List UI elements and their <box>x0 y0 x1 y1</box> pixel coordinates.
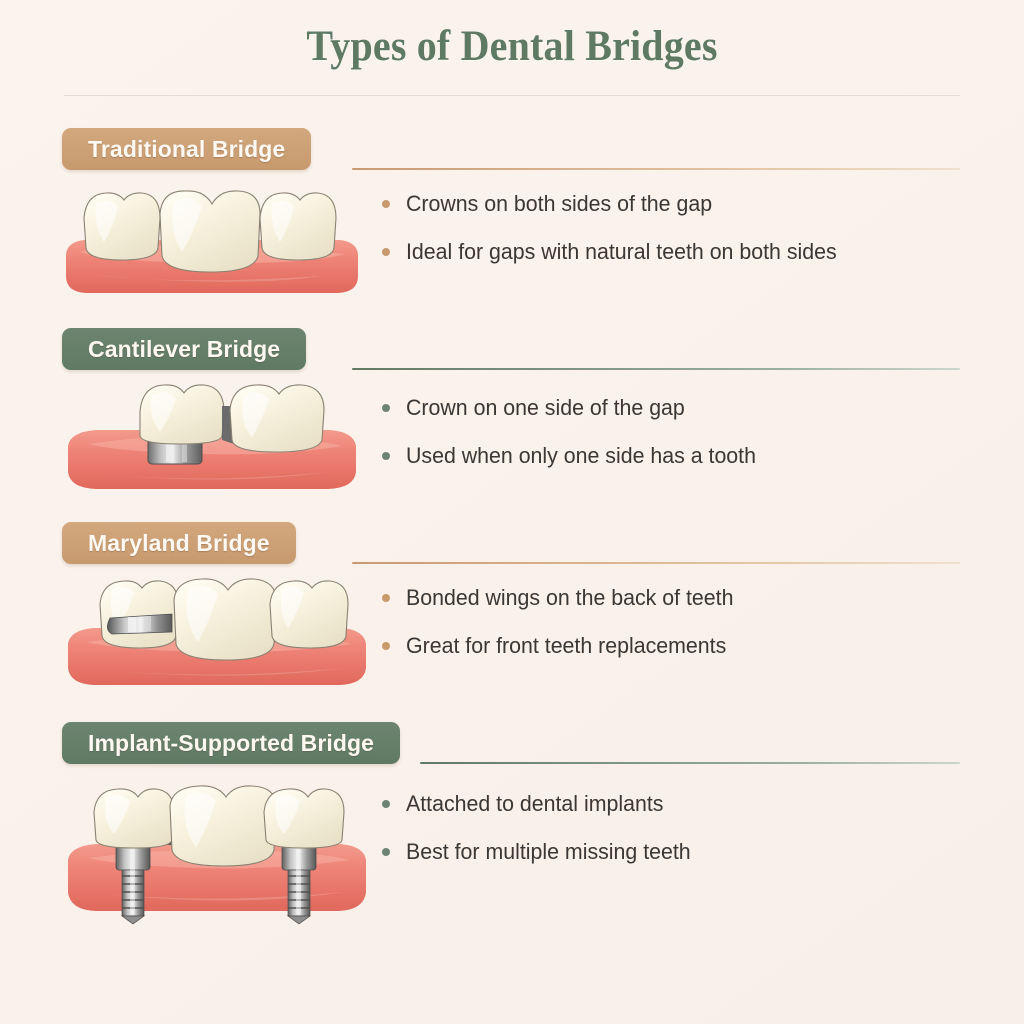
bullet-dot-icon <box>382 800 390 808</box>
bullet-text: Ideal for gaps with natural teeth on bot… <box>406 238 837 266</box>
cantilever-bridge-illustration <box>62 374 362 509</box>
title-divider <box>64 95 960 96</box>
bullets-implant-supported-bridge: Attached to dental implants Best for mul… <box>382 790 699 886</box>
section-divider-traditional <box>352 168 960 170</box>
section-label-maryland-bridge: Maryland Bridge <box>62 522 296 564</box>
page-title: Types of Dental Bridges <box>36 22 988 71</box>
section-divider-implant <box>420 762 960 764</box>
implant-supported-bridge-illustration <box>62 780 372 930</box>
bullets-maryland-bridge: Bonded wings on the back of teeth Great … <box>382 584 744 680</box>
bullet-dot-icon <box>382 642 390 650</box>
section-label-cantilever-bridge: Cantilever Bridge <box>62 328 306 370</box>
section-label-text: Traditional Bridge <box>88 136 285 163</box>
section-label-text: Implant-Supported Bridge <box>88 730 374 757</box>
section-divider-cantilever <box>352 368 960 370</box>
page-title-container: Types of Dental Bridges <box>0 22 1024 71</box>
section-label-traditional-bridge: Traditional Bridge <box>62 128 311 170</box>
bullet-text: Best for multiple missing teeth <box>406 838 691 866</box>
bullet-text: Attached to dental implants <box>406 790 663 818</box>
bullets-cantilever-bridge: Crown on one side of the gap Used when o… <box>382 394 767 490</box>
list-item: Crowns on both sides of the gap <box>382 190 850 218</box>
bullet-dot-icon <box>382 848 390 856</box>
bullet-dot-icon <box>382 404 390 412</box>
list-item: Ideal for gaps with natural teeth on bot… <box>382 238 850 266</box>
bullet-dot-icon <box>382 248 390 256</box>
bullet-dot-icon <box>382 594 390 602</box>
bullet-text: Used when only one side has a tooth <box>406 442 756 470</box>
bullet-text: Great for front teeth replacements <box>406 632 726 660</box>
infographic-page: Types of Dental Bridges Traditional Brid… <box>0 0 1024 1024</box>
list-item: Bonded wings on the back of teeth <box>382 584 744 612</box>
list-item: Attached to dental implants <box>382 790 699 818</box>
section-label-implant-supported-bridge: Implant-Supported Bridge <box>62 722 400 764</box>
maryland-bridge-illustration <box>62 572 372 704</box>
list-item: Best for multiple missing teeth <box>382 838 699 866</box>
traditional-bridge-illustration <box>62 180 362 310</box>
bullet-text: Crown on one side of the gap <box>406 394 685 422</box>
bullet-text: Bonded wings on the back of teeth <box>406 584 733 612</box>
list-item: Used when only one side has a tooth <box>382 442 767 470</box>
section-label-text: Maryland Bridge <box>88 530 270 557</box>
bullet-text: Crowns on both sides of the gap <box>406 190 712 218</box>
section-label-text: Cantilever Bridge <box>88 336 280 363</box>
list-item: Crown on one side of the gap <box>382 394 767 422</box>
bullets-traditional-bridge: Crowns on both sides of the gap Ideal fo… <box>382 190 850 286</box>
list-item: Great for front teeth replacements <box>382 632 744 660</box>
section-divider-maryland <box>352 562 960 564</box>
bullet-dot-icon <box>382 452 390 460</box>
bullet-dot-icon <box>382 200 390 208</box>
